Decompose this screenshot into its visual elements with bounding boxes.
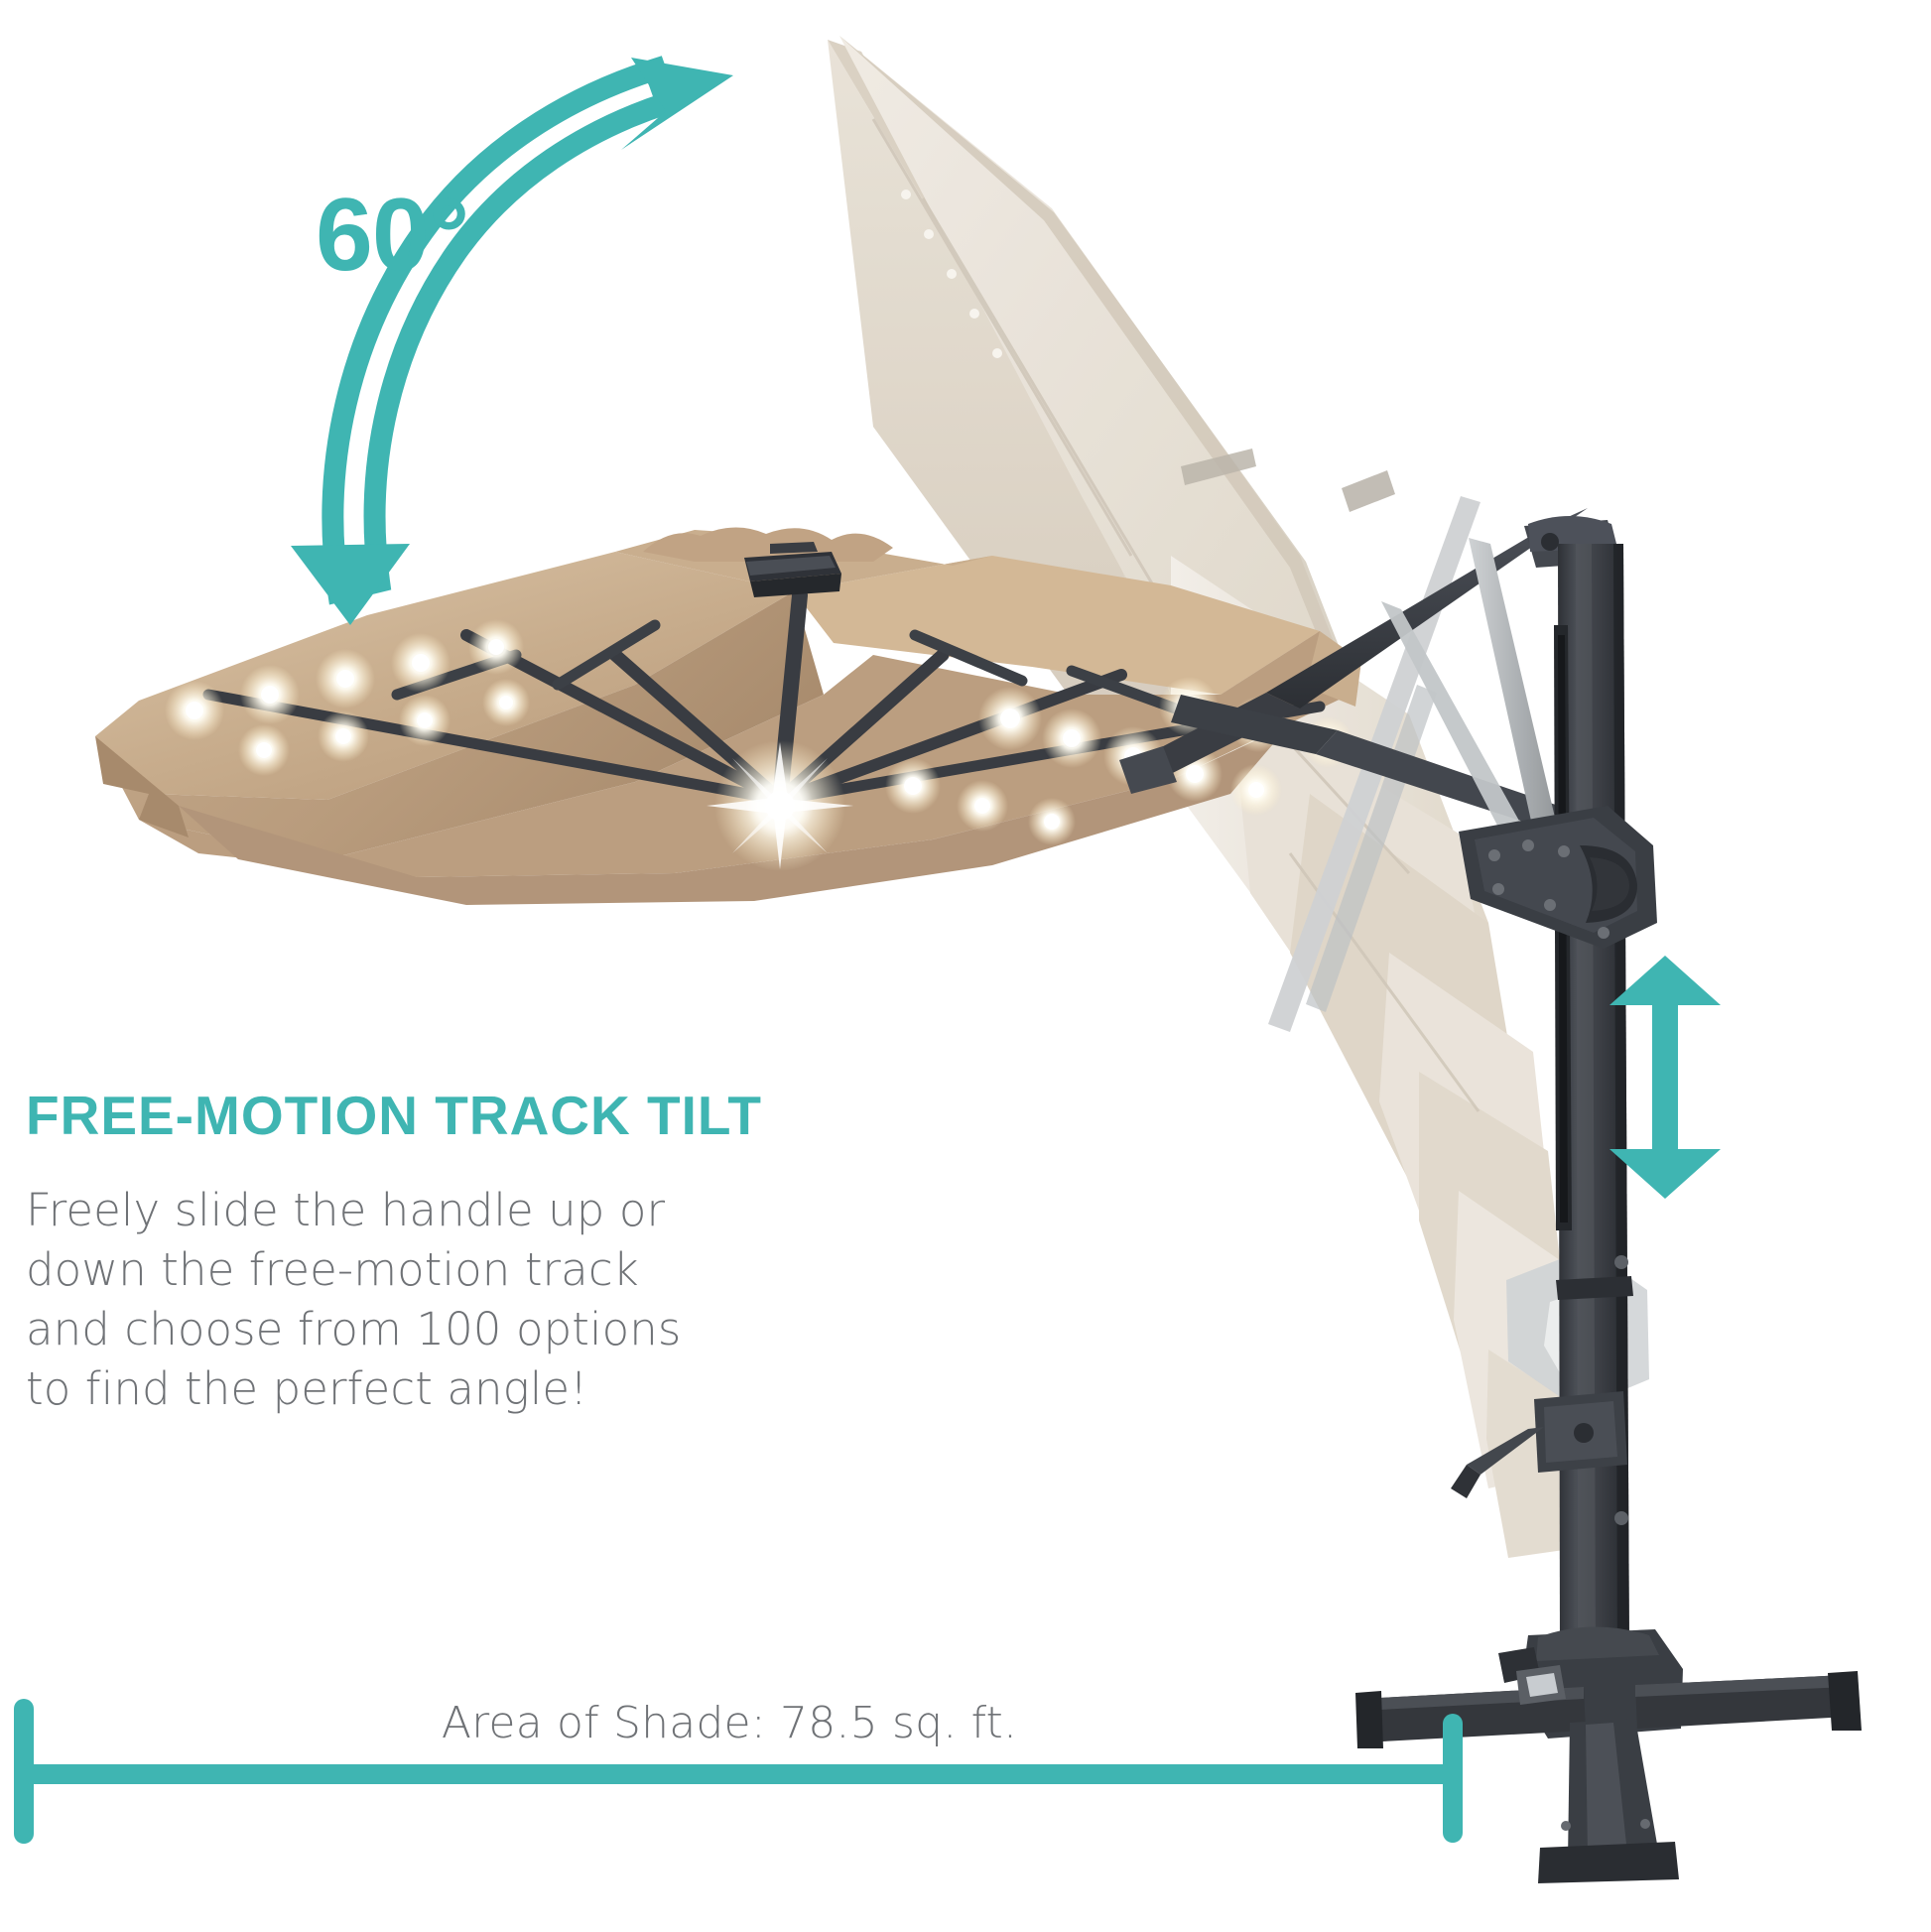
vertical-double-arrow-icon <box>1609 956 1721 1199</box>
infographic-canvas: 60° FREE-MOTION TRACK TILT Freely slide … <box>0 0 1931 1932</box>
feature-headline: FREE-MOTION TRACK TILT <box>26 1088 762 1145</box>
feature-body-text: Freely slide the handle up or down the f… <box>26 1181 839 1418</box>
tilt-angle-label: 60° <box>316 184 468 287</box>
area-of-shade-caption: Area of Shade: 78.5 sq. ft. <box>0 1698 1459 1748</box>
curved-double-arrow-icon <box>291 58 733 625</box>
annotation-layer <box>0 0 1931 1932</box>
